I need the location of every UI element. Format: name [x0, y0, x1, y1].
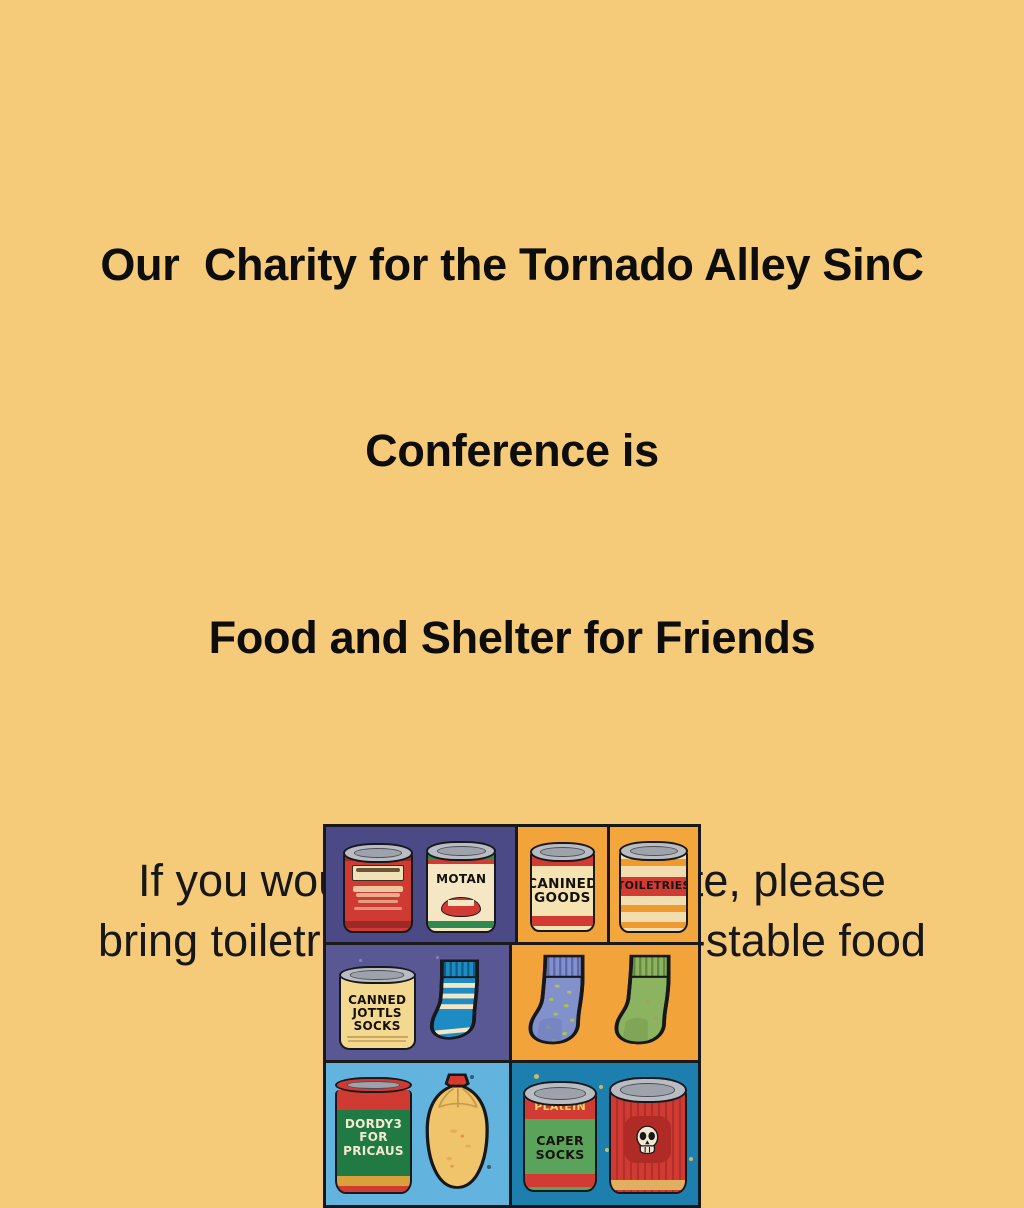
can-motan: MOTAN — [426, 841, 496, 933]
can-lid — [426, 841, 496, 861]
can-body: CANINED GOODS — [530, 852, 595, 932]
panel-bottom-left: DORDY3 FOR PRICAUS — [326, 1063, 509, 1205]
can-red-scribble — [343, 843, 413, 933]
panel-top-right: TOILETRIES — [610, 827, 698, 942]
can-canined-goods: CANINED GOODS — [530, 842, 595, 932]
sock-shape — [609, 952, 691, 1055]
can-bottom-band-red — [337, 1186, 410, 1192]
can-body: PLAtEIN CAPERSOCKS — [523, 1093, 598, 1192]
illustration-row-bottom: DORDY3 FOR PRICAUS — [326, 1063, 698, 1205]
can-lid — [523, 1081, 598, 1105]
headline-line-1: Our Charity for the Tornado Alley SinC — [47, 234, 977, 296]
speckle — [689, 1157, 693, 1161]
can-label-caper-socks: CAPERSOCKS — [525, 1134, 596, 1162]
can-toiletries: TOILETRIES — [619, 841, 688, 933]
can-label-dordy3: DORDY3 FOR PRICAUS — [337, 1118, 410, 1158]
illustration-grid: MOTAN — [323, 824, 701, 1208]
sock-blue-dotted — [523, 952, 605, 1055]
speckle — [534, 1074, 539, 1079]
skull-icon — [631, 1121, 664, 1158]
can-dordy3-for-pricaus: DORDY3 FOR PRICAUS — [335, 1077, 412, 1194]
can-body — [609, 1090, 687, 1194]
speckle — [359, 959, 362, 962]
panel-top-middle: CANINED GOODS — [518, 827, 606, 942]
speckle — [599, 1085, 603, 1089]
can-lid — [609, 1077, 687, 1103]
panel-middle-left: CANNED JOTTLS SOCKS — [326, 945, 509, 1060]
sack-of-goods — [417, 1071, 497, 1196]
can-label-canned-jottls-socks: CANNED JOTTLS SOCKS — [341, 994, 414, 1033]
can-label-toiletries: TOILETRIES — [621, 880, 686, 891]
can-bottom-band — [532, 916, 593, 926]
can-body: CANNED JOTTLS SOCKS — [339, 975, 416, 1051]
headline-line-2: Conference is — [47, 420, 977, 482]
can-canned-jottls-socks: CANNED JOTTLS SOCKS — [339, 966, 416, 1051]
illustration-row-top: MOTAN — [326, 827, 698, 942]
sock-green — [609, 952, 691, 1055]
headline-line-3: Food and Shelter for Friends — [47, 607, 977, 669]
can-lid — [343, 843, 413, 863]
can-label-motan: MOTAN — [428, 873, 494, 885]
can-bottom-band — [611, 1180, 685, 1189]
can-band-orange-2 — [621, 905, 686, 912]
can-bottom-band — [345, 921, 411, 927]
can-lid — [619, 841, 688, 861]
page-title: Our Charity for the Tornado Alley SinC C… — [47, 110, 977, 793]
can-bottom-band — [428, 921, 494, 928]
sock-shape — [423, 956, 496, 1052]
can-bottom-band — [525, 1174, 596, 1188]
panel-top-left: MOTAN — [326, 827, 515, 942]
can-skull — [609, 1077, 687, 1194]
can-lid — [530, 842, 595, 862]
can-body: MOTAN — [426, 851, 496, 933]
can-body: TOILETRIES — [619, 851, 688, 933]
sock-blue-striped — [423, 956, 496, 1052]
panel-bottom-right: PLAtEIN CAPERSOCKS — [512, 1063, 698, 1205]
sock-shape — [523, 952, 605, 1055]
can-label-canined-goods: CANINED GOODS — [532, 878, 593, 906]
poster: Our Charity for the Tornado Alley SinC C… — [0, 0, 1024, 1024]
can-lid — [339, 966, 416, 985]
can-lid — [335, 1077, 412, 1093]
can-body — [343, 853, 413, 933]
sack-shape — [417, 1071, 497, 1196]
panel-middle-right — [512, 945, 698, 1060]
can-caper-socks: PLAtEIN CAPERSOCKS — [523, 1081, 598, 1192]
can-bottom-band — [621, 922, 686, 928]
illustration-row-middle: CANNED JOTTLS SOCKS — [326, 945, 698, 1060]
panel-top-right-group: CANINED GOODS TOILETRIES — [518, 827, 698, 942]
can-bottom-band-gold — [337, 1176, 410, 1185]
can-body: DORDY3 FOR PRICAUS — [335, 1090, 412, 1194]
